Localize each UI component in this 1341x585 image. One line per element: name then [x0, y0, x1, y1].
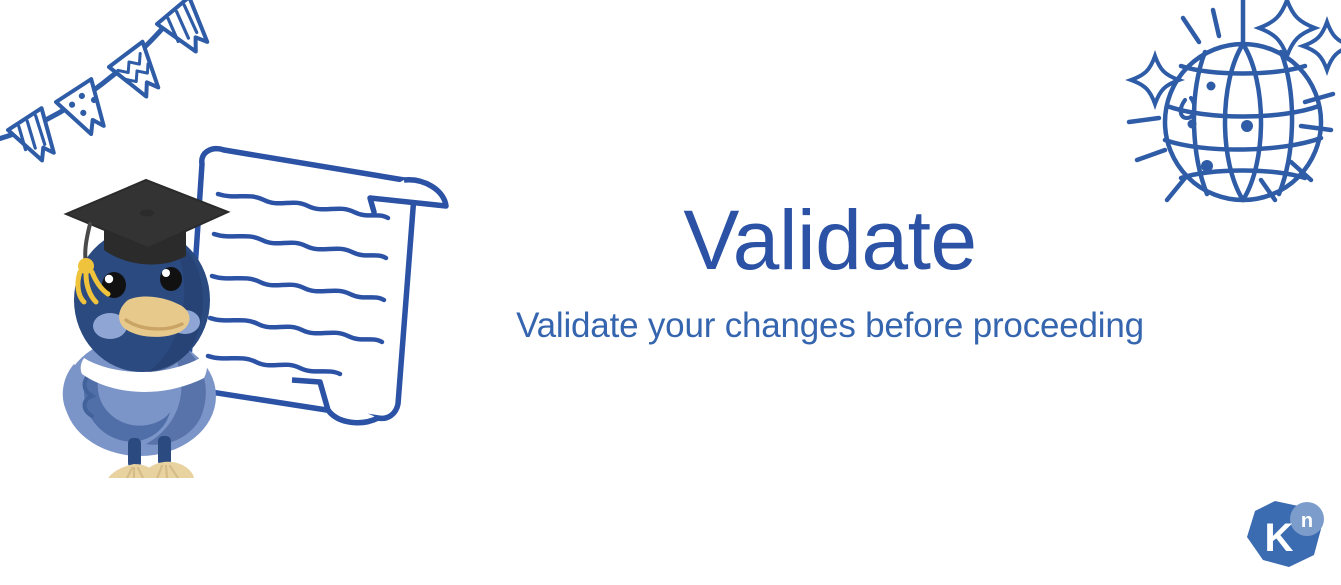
- scroll-document: [187, 149, 446, 423]
- page-title: Validate: [470, 196, 1190, 284]
- slide-canvas: Validate Validate your changes before pr…: [0, 0, 1341, 585]
- page-subtitle: Validate your changes before proceeding: [470, 306, 1190, 346]
- kn-logo: K n: [1241, 497, 1327, 577]
- graduate-bird-with-scroll: [52, 138, 462, 478]
- logo-letter-n: n: [1301, 510, 1313, 532]
- logo-letter-k: K: [1265, 516, 1294, 560]
- disco-ball-icon: [1115, 0, 1341, 229]
- text-block: Validate Validate your changes before pr…: [470, 196, 1190, 346]
